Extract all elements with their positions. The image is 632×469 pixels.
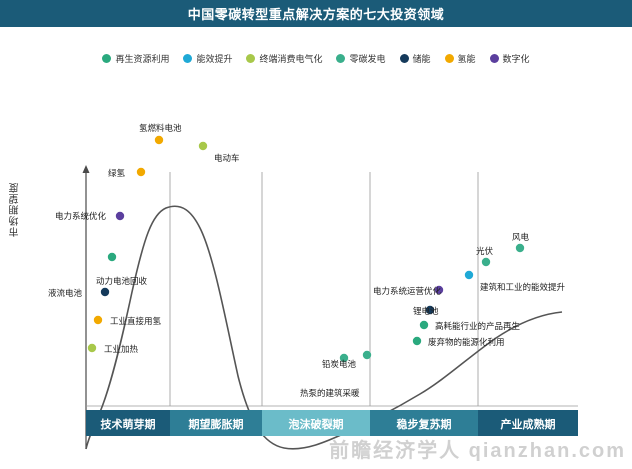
legend-label: 终端消费电气化 — [259, 52, 322, 65]
data-point[interactable] — [199, 142, 207, 150]
data-point[interactable] — [155, 136, 163, 144]
data-point[interactable] — [108, 253, 116, 261]
legend-label: 数字化 — [503, 52, 530, 65]
y-axis-label: 市场期望度 — [8, 182, 23, 237]
legend-item[interactable]: 终端消费电气化 — [246, 52, 322, 65]
data-point-label: 绿氢 — [108, 167, 125, 179]
phase-label: 产业成熟期 — [495, 416, 561, 432]
data-point-label: 电力系统优化 — [55, 210, 106, 222]
legend-item[interactable]: 能效提升 — [183, 52, 232, 65]
data-point[interactable] — [363, 351, 371, 359]
page-title: 中国零碳转型重点解决方案的七大投资领域 — [188, 4, 445, 23]
data-point[interactable] — [482, 258, 490, 266]
data-point[interactable] — [94, 316, 102, 324]
page-title-bar: 中国零碳转型重点解决方案的七大投资领域 — [0, 0, 632, 27]
legend-color-dot — [445, 54, 454, 63]
data-point-label: 高耗能行业的产品再生 — [435, 320, 520, 332]
phase-label: 泡沫破裂期 — [283, 416, 349, 432]
data-point[interactable] — [116, 212, 124, 220]
data-point[interactable] — [413, 337, 421, 345]
data-point-label: 热泵的建筑采暖 — [300, 387, 360, 399]
legend-label: 氢能 — [458, 52, 476, 65]
data-point-label: 液流电池 — [48, 287, 82, 299]
phase-label: 稳步复苏期 — [391, 416, 457, 432]
data-point-label: 建筑和工业的能效提升 — [480, 281, 565, 293]
data-point[interactable] — [420, 321, 428, 329]
legend-color-dot — [490, 54, 499, 63]
data-point[interactable] — [88, 344, 96, 352]
phase-label: 期望膨胀期 — [183, 416, 249, 432]
hype-curve-svg — [0, 72, 632, 469]
y-axis-arrow — [83, 165, 90, 173]
legend-item[interactable]: 氢能 — [445, 52, 476, 65]
legend-color-dot — [102, 54, 111, 63]
data-point[interactable] — [465, 271, 473, 279]
legend-item[interactable]: 数字化 — [490, 52, 530, 65]
phase-label: 技术萌芽期 — [95, 416, 161, 432]
legend-color-dot — [400, 54, 409, 63]
legend-label: 储能 — [413, 52, 431, 65]
data-point-label: 风电 — [512, 231, 529, 243]
legend-item[interactable]: 零碳发电 — [336, 52, 385, 65]
data-point-label: 电力系统运营优化 — [373, 285, 441, 297]
legend-label: 再生资源利用 — [115, 52, 169, 65]
chart-legend: 再生资源利用能效提升终端消费电气化零碳发电储能氢能数字化 — [0, 45, 632, 71]
legend-label: 零碳发电 — [349, 52, 385, 65]
data-point-label: 工业直接用氢 — [110, 315, 161, 327]
legend-item[interactable]: 储能 — [400, 52, 431, 65]
chart-area: 市场期望度 工业加热工业直接用氢液流电池动力电池回收电力系统优化绿氢氢燃料电池电… — [0, 72, 632, 469]
legend-color-dot — [183, 54, 192, 63]
legend-color-dot — [246, 54, 255, 63]
data-point-label: 光伏 — [476, 245, 493, 257]
legend-label: 能效提升 — [196, 52, 232, 65]
data-point-label: 工业加热 — [104, 343, 138, 355]
data-point-label: 废弃物的能源化利用 — [428, 336, 505, 348]
data-point[interactable] — [101, 288, 109, 296]
data-point-label: 锂电池 — [413, 305, 439, 317]
data-point[interactable] — [516, 244, 524, 252]
data-point-label: 电动车 — [214, 152, 240, 164]
legend-color-dot — [336, 54, 345, 63]
legend-item[interactable]: 再生资源利用 — [102, 52, 169, 65]
data-point-label: 铅炭电池 — [322, 358, 356, 370]
data-point-label: 氢燃料电池 — [139, 122, 182, 134]
data-point[interactable] — [137, 168, 145, 176]
data-point-label: 动力电池回收 — [96, 275, 147, 287]
